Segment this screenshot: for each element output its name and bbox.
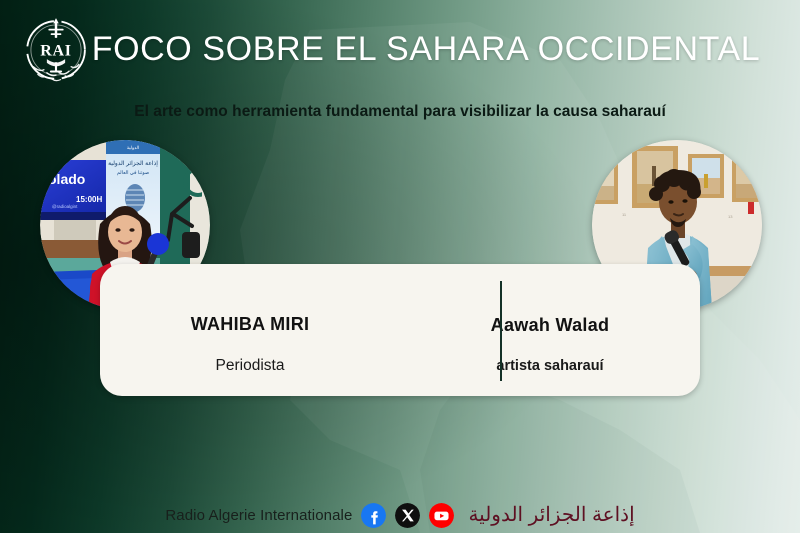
page-title: FOCO SOBRE EL SAHARA OCCIDENTAL [0,30,800,69]
footer-brand-arabic: إذاعة الجزائر الدولية [468,502,634,527]
svg-text:@radioalgint: @radioalgint [52,204,78,209]
poster-canvas: RAI FOCO SOBRE EL SAHARA OCCIDENTAL El a… [0,0,800,533]
guest-2-role: artista saharauí [496,358,603,374]
youtube-icon[interactable] [429,503,454,528]
guest-entry-2: Aawah Walad artista saharauí [400,264,700,396]
guest-1-name: WAHIBA MIRI [191,314,310,335]
guest-entry-1: WAHIBA MIRI Periodista [100,264,400,396]
svg-text:صوتنا في العالم: صوتنا في العالم [117,170,149,176]
svg-text:15:00H: 15:00H [76,195,102,204]
card-divider [500,281,502,381]
svg-text:13: 13 [728,214,733,219]
x-twitter-icon[interactable] [395,503,420,528]
page-subtitle: El arte como herramienta fundamental par… [0,103,800,121]
footer-brand-latin: Radio Algerie Internationale [165,507,352,524]
footer-bar: Radio Algerie Internationale إذاعة الجزا… [0,498,800,532]
facebook-icon[interactable] [361,503,386,528]
svg-text:إذاعة الجزائر الدولية: إذاعة الجزائر الدولية [108,160,158,167]
guests-card: WAHIBA MIRI Periodista Aawah Walad artis… [100,264,700,396]
guest-2-name: Aawah Walad [491,315,610,336]
guest-1-role: Periodista [216,357,285,375]
